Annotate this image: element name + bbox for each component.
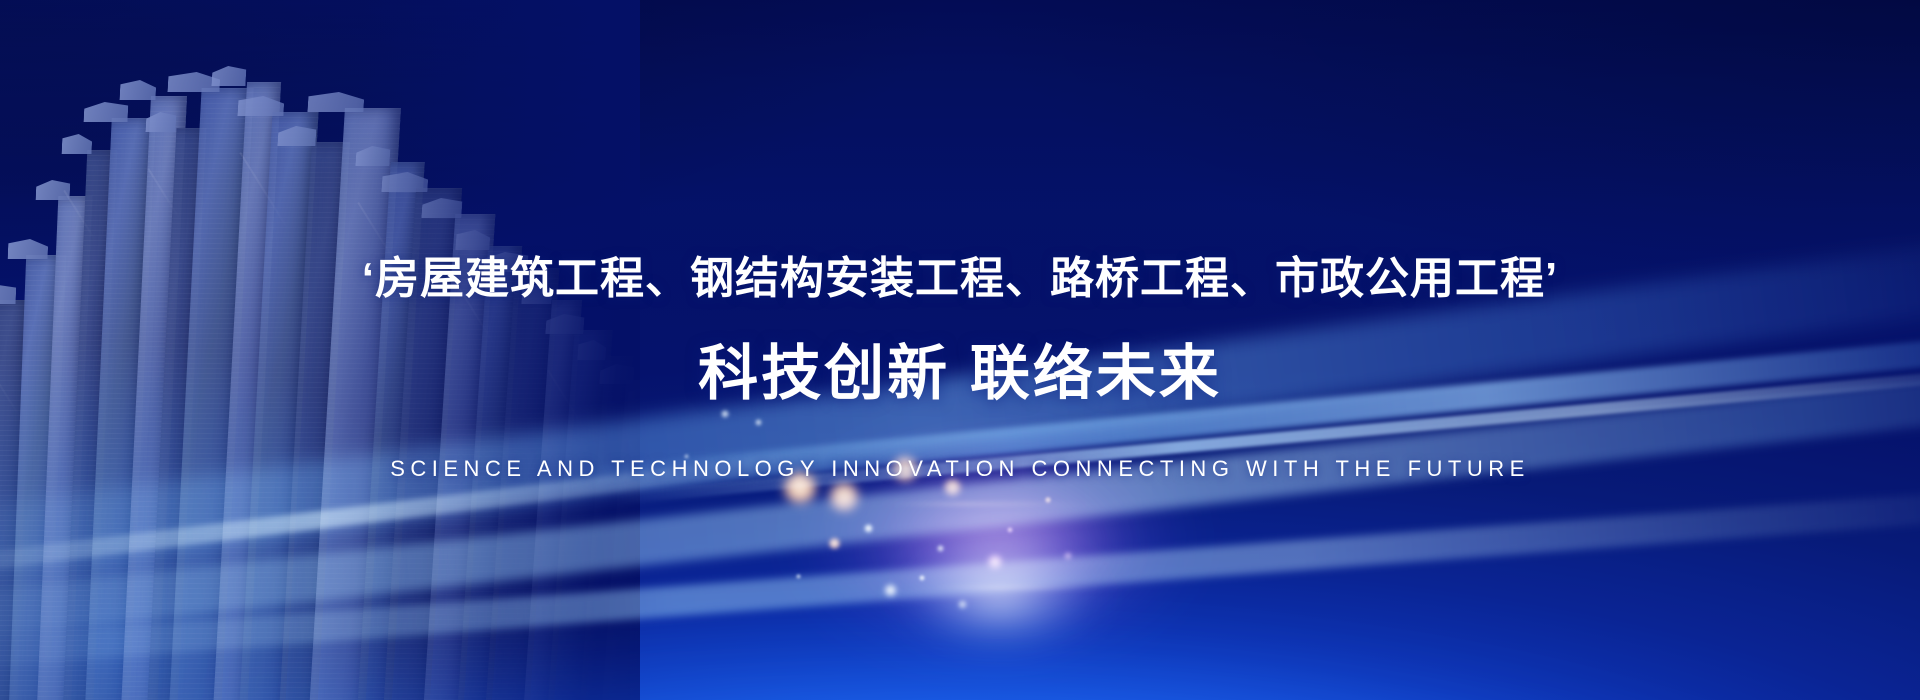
scope-of-business-title: ‘房屋建筑工程、钢结构安装工程、路桥工程、市政公用工程’: [0, 251, 1920, 307]
building-slab-cap: [62, 134, 93, 154]
slogan-headline: 科技创新 联络未来: [0, 337, 1920, 411]
building-slab-cap: [307, 92, 364, 112]
building-slab-cap: [84, 102, 129, 122]
slogan-subtitle-english: SCIENCE AND TECHNOLOGY INNOVATION CONNEC…: [0, 453, 1920, 485]
building-slab-cap: [211, 66, 246, 86]
hero-banner: ‘房屋建筑工程、钢结构安装工程、路桥工程、市政公用工程’ 科技创新 联络未来 S…: [0, 0, 1920, 700]
building-slab-cap: [120, 80, 157, 100]
